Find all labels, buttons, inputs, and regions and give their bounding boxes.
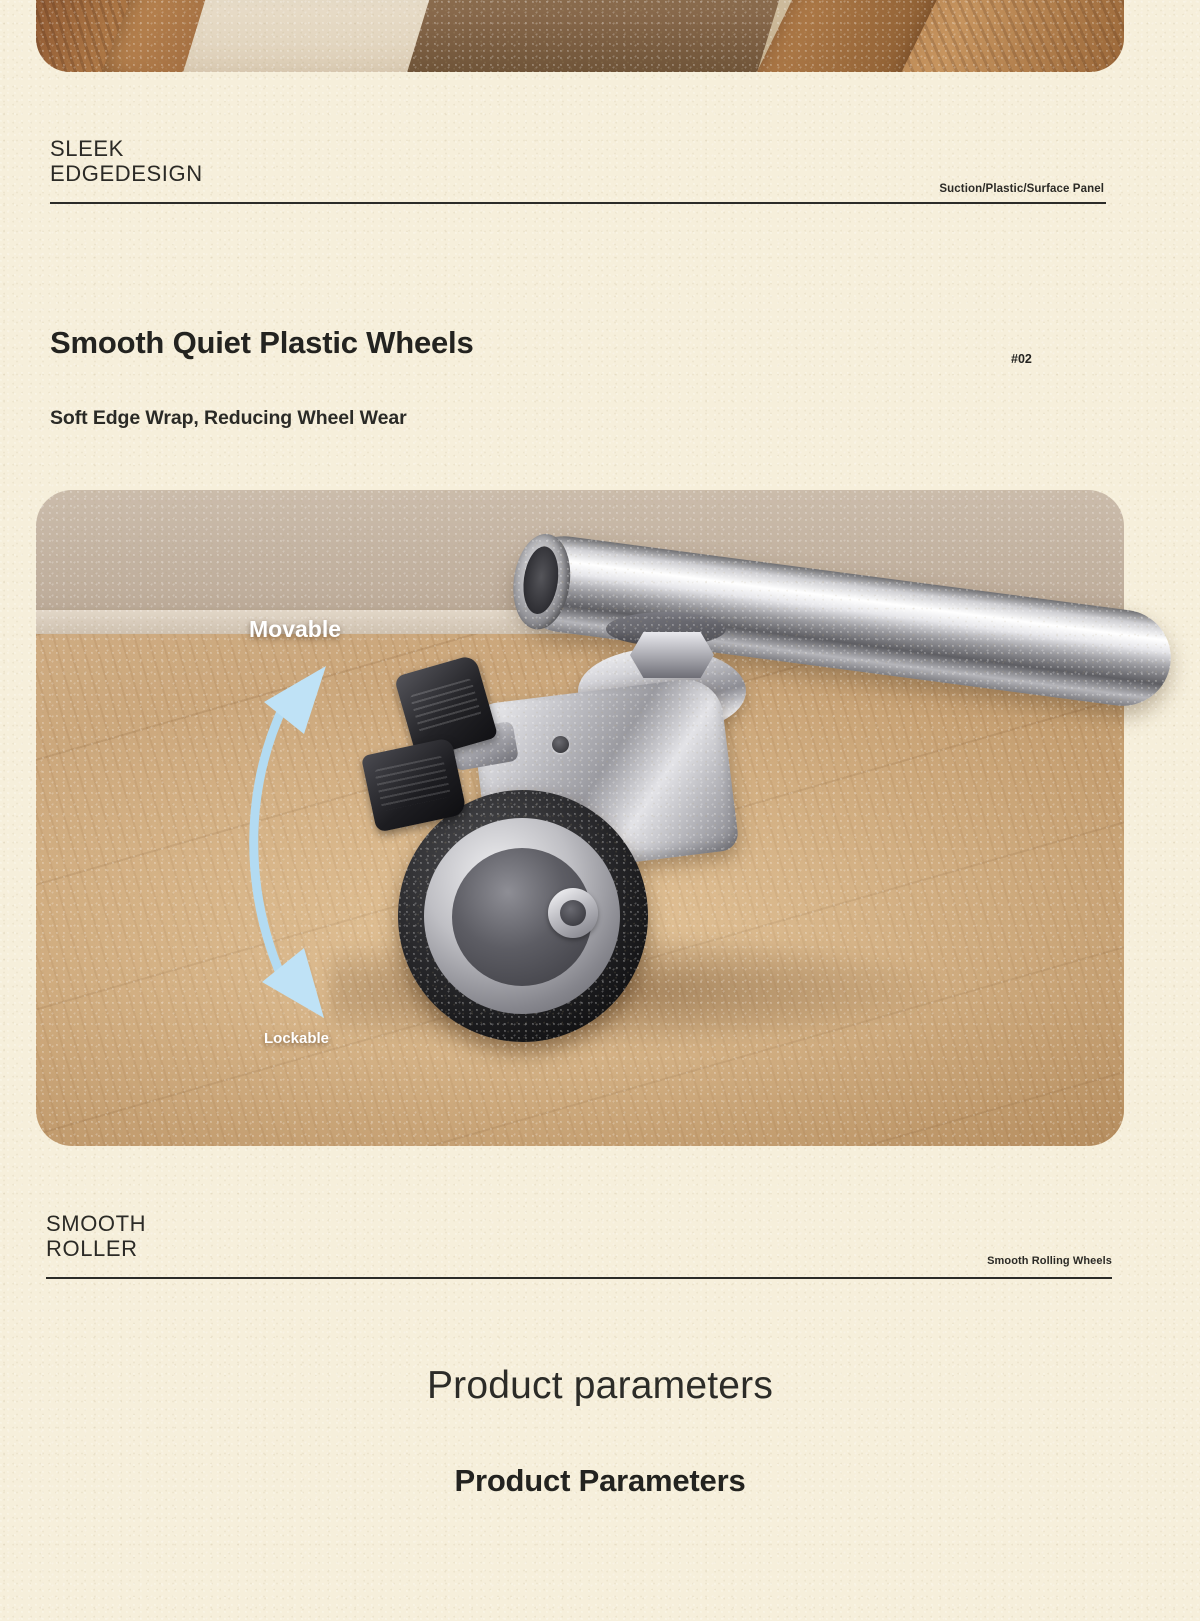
label-movable: Movable (249, 616, 341, 643)
footer-band: SMOOTH ROLLER Smooth Rolling Wheels (46, 1211, 1112, 1279)
footer-title-line2: ROLLER (46, 1236, 1112, 1261)
page-subtitle: Soft Edge Wrap, Reducing Wheel Wear (50, 407, 407, 430)
section-index-badge: #02 (1011, 352, 1032, 366)
header-divider (50, 202, 1106, 204)
page-title: Smooth Quiet Plastic Wheels (50, 325, 474, 361)
top-hero-photo (36, 0, 1124, 72)
footer-caption: Smooth Rolling Wheels (987, 1255, 1112, 1267)
header-title-line1: SLEEK (50, 136, 1106, 161)
wheel-axle (560, 900, 586, 926)
label-lockable: Lockable (264, 1030, 329, 1047)
header-band: SLEEK EDGEDESIGN Suction/Plastic/Surface… (50, 136, 1106, 204)
header-caption: Suction/Plastic/Surface Panel (939, 183, 1104, 195)
footer-title-line1: SMOOTH (46, 1211, 1112, 1236)
caster-yoke-rivet (552, 736, 569, 753)
parameters-title-bold: Product Parameters (0, 1463, 1200, 1499)
parameters-title-light: Product parameters (0, 1364, 1200, 1408)
caster-hex-nut (630, 632, 714, 678)
footer-divider (46, 1277, 1112, 1279)
hero-shading (36, 0, 1124, 72)
